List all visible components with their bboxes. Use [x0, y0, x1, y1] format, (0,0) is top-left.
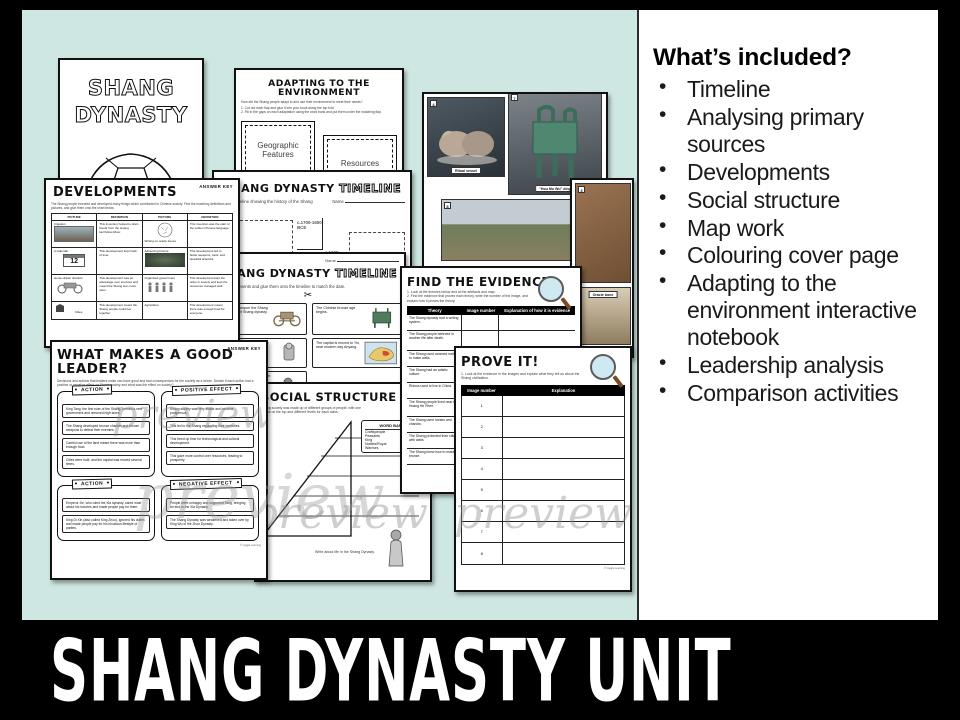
list-item: Adapting to the environment interactive … — [653, 270, 928, 351]
cover-title-line2: DYNASTY — [65, 105, 197, 126]
leader-card: King Di Xin (also called King Zhou), ign… — [62, 515, 150, 533]
cell-text: This development meant there was enough … — [187, 302, 232, 320]
positive-effect-tag: POSITIVE EFFECT — [172, 384, 242, 396]
cell-text: This invention was the start of the writ… — [187, 221, 232, 248]
oracle-bone-doodle — [145, 222, 185, 239]
prove-it-step-1: 1. Look at the evidence in the images an… — [461, 372, 587, 381]
timeline2-title-accent: TIMELINE — [335, 267, 397, 280]
action-tag: ACTION — [72, 385, 112, 396]
cell-text: This development was an advantage over e… — [97, 275, 142, 302]
find-evidence-step-2: 2. Find the evidence that proves each th… — [407, 294, 533, 303]
good-leader-positive-column: POSITIVE EFFECT Shang society was very s… — [161, 391, 259, 477]
table-row: 1 — [462, 396, 624, 417]
good-leader-footer: © Giggle Learning — [57, 544, 261, 547]
table-row: 4 — [462, 459, 624, 480]
cell-text: This development kept the order in socie… — [187, 275, 232, 302]
bronze-vessel-icon — [366, 306, 398, 330]
timeline-event-card: The capital is moved to Yin, near modern… — [312, 338, 402, 368]
worksheet-prove-it: PROVE IT! 1. Look at the evidence in the… — [454, 346, 632, 592]
leader-card: People were unhappy and supported Tang, … — [166, 498, 254, 512]
table-row: 7 — [462, 522, 624, 543]
row-number: 3 — [462, 438, 503, 458]
adapting-flap-label: Geographic Features — [246, 141, 310, 159]
worksheet-good-leader: ANSWER KEY WHAT MAKES A GOOD LEADER? Dec… — [50, 340, 268, 580]
cell-text: This invention helped to drain floods fr… — [97, 221, 142, 248]
table-row: 3 — [462, 438, 624, 459]
whats-included-panel: What’s included? Timeline Analysing prim… — [637, 10, 938, 620]
list-item: Leadership analysis — [653, 352, 928, 379]
cell-label: Cities — [75, 310, 83, 314]
cell-label: Agriculture — [142, 302, 187, 320]
timeline1-name-label: Name — [332, 199, 343, 204]
social-structure-intro: Shang society was made up of different g… — [261, 406, 371, 415]
negative-effect-tag: NEGATIVE EFFECT — [170, 478, 242, 490]
photo-caption: Ritual vessel — [451, 167, 481, 174]
calendar-icon: 12 — [63, 254, 85, 267]
timeline1-title-accent: TIMELINE — [339, 182, 401, 195]
table-row: 2 — [462, 417, 624, 438]
find-evidence-header-row: Theory Image number Explanation of how i… — [407, 306, 575, 315]
cell-label: Writing on oracle bones — [145, 239, 185, 243]
list-item: Colouring cover page — [653, 242, 928, 269]
col-header: Image number — [462, 308, 499, 313]
list-item: Comparison activities — [653, 380, 928, 407]
city-icon — [54, 303, 74, 313]
social-structure-prompt: Write about life in the Shang Dynasty. — [315, 550, 375, 554]
photo-caption: "Hou Mu Wu" ding — [535, 185, 575, 192]
good-leader-title: WHAT MAKES A GOOD LEADER? — [57, 349, 261, 376]
good-leader-action-column-2: ACTION Emperor Jie, who ruled the Xia dy… — [57, 485, 155, 541]
government-people-icon — [145, 280, 179, 294]
cell-text: This development kept track of time. — [97, 248, 142, 275]
cell-label: A calendar — [54, 249, 94, 253]
col-header: Explanation — [502, 388, 625, 393]
adapting-intro: How did the Shang people adapt to and us… — [241, 100, 397, 104]
developments-table: PICTURE DEFINITION PICTURE DEFINITION Ir… — [51, 213, 233, 320]
magnifying-glass-icon — [590, 354, 616, 380]
timeline-event-text: The capital is moved to Yin, near modern… — [316, 341, 361, 365]
leader-card: King Tang, the first ruler of the Shang,… — [62, 404, 150, 418]
adapting-title: ADAPTING TO THE ENVIRONMENT — [241, 79, 397, 97]
leader-card: Careful use of the land meant there was … — [62, 438, 150, 452]
ruler-figure-icon — [276, 341, 302, 363]
slide-canvas: SHANG DYNASTY ADAPTING TO THE ENVIRONMEN… — [0, 0, 960, 720]
leader-card: Cities were built, and the capital was m… — [62, 455, 150, 469]
cover-title-line1: SHANG — [65, 78, 197, 99]
leader-card: The Shang Dynasty was weakened and taken… — [166, 515, 254, 529]
photo-number: 3 — [578, 186, 585, 193]
product-preview-panel: SHANG DYNASTY ADAPTING TO THE ENVIRONMEN… — [22, 10, 637, 620]
cell-text: This development meant the Shang people … — [97, 302, 142, 320]
col-header: PICTURE — [142, 214, 187, 221]
good-leader-action-column: ACTION King Tang, the first ruler of the… — [57, 391, 155, 477]
table-row: Irrigation This invention helped to drai… — [52, 221, 233, 248]
photo-river-landscape: 8 — [441, 199, 587, 261]
developments-intro: The Shang people invented and developed … — [51, 202, 233, 210]
unit-title: SHANG DYNASTY UNIT — [50, 621, 732, 720]
chariot-icon — [272, 306, 303, 328]
cell-text: This development led to better weapons, … — [187, 248, 232, 275]
photo-number: 8 — [444, 202, 451, 209]
prove-it-header-row: Image number Explanation — [461, 385, 625, 396]
table-row: A calendar 12 This development kept trac… — [52, 248, 233, 275]
leader-card: This gave more control over resources, l… — [166, 451, 254, 465]
timeline-event-card: The Chinese bronze age begins. — [312, 303, 402, 335]
worksheet-developments: ANSWER KEY DEVELOPMENTS The Shang people… — [44, 178, 240, 348]
scissors-icon: ✂ — [217, 291, 399, 301]
list-item: Social structure — [653, 187, 928, 214]
prove-it-footer: © Giggle Learning — [461, 567, 625, 570]
leader-card: Emperor Jie, who ruled the Xia dynasty, … — [62, 498, 150, 512]
table-row: 5 — [462, 480, 624, 501]
photo-ritual-vessel: 4 Ritual vessel — [427, 97, 505, 177]
row-number: 8 — [462, 543, 503, 564]
china-map-icon — [364, 341, 398, 365]
scholar-figure-icon — [383, 528, 409, 568]
table-row: Cities This development meant the Shang … — [52, 302, 233, 320]
col-header: Image number — [461, 388, 502, 393]
good-leader-negative-column: NEGATIVE EFFECT People were unhappy and … — [161, 485, 259, 541]
col-header: DEFINITION — [187, 214, 232, 221]
chariot-icon — [54, 280, 88, 294]
table-row: 8 — [462, 543, 624, 564]
photo-oracle-bone: Oracle bone — [575, 287, 631, 345]
adapting-flap-label: Resources — [341, 159, 379, 168]
row-number: 7 — [462, 522, 503, 542]
row-number: 5 — [462, 480, 503, 500]
col-header: Explanation of how it is evidence — [499, 308, 575, 313]
table-header-row: PICTURE DEFINITION PICTURE DEFINITION — [52, 214, 233, 221]
row-number: 4 — [462, 459, 503, 479]
photo-caption: Oracle bone — [589, 291, 618, 298]
timeline2-name-label: Name — [325, 258, 336, 263]
table-row: 6 — [462, 501, 624, 522]
timeline2-instruction: Cut out the events and glue them onto th… — [217, 284, 399, 289]
action-tag: ACTION — [72, 479, 112, 490]
leader-card: Shang society was very stable and became… — [166, 404, 254, 418]
photo-excavation-site: 3 — [575, 183, 631, 283]
row-number: 2 — [462, 417, 503, 437]
unit-title-banner: SHANG DYNASTY UNIT — [0, 622, 960, 720]
list-item: Timeline — [653, 76, 928, 103]
leader-card: This freed up time for technological and… — [166, 434, 254, 448]
theory-cell: The Shang dynasty had a writing system. — [407, 315, 462, 330]
table-row: The Shang dynasty had a writing system. — [407, 315, 575, 331]
col-header: Theory — [407, 308, 462, 313]
whats-included-list: Timeline Analysing primary sources Devel… — [653, 76, 928, 407]
table-row: Horse-drawn chariots This development wa… — [52, 275, 233, 302]
prove-it-rows: 1 2 3 4 5 6 — [461, 396, 625, 565]
leader-card: The Shang developed bronze chariots and … — [62, 421, 150, 435]
bronze-photo — [145, 253, 185, 267]
adapting-step-2: 2. Fill in the gaps on each adaptation u… — [241, 110, 397, 114]
row-number: 1 — [462, 396, 503, 416]
timeline-event-text: The Chinese bronze age begins. — [316, 306, 363, 332]
irrigation-photo — [54, 226, 94, 242]
list-item: Map work — [653, 215, 928, 242]
magnifying-glass-icon — [538, 276, 564, 302]
list-item: Developments — [653, 159, 928, 186]
col-header: DEFINITION — [97, 214, 142, 221]
col-header: PICTURE — [52, 214, 97, 221]
leader-card: This led to the Shang expanding their te… — [166, 421, 254, 431]
list-item: Analysing primary sources — [653, 104, 928, 158]
whats-included-heading: What’s included? — [653, 44, 928, 72]
row-number: 6 — [462, 501, 503, 521]
